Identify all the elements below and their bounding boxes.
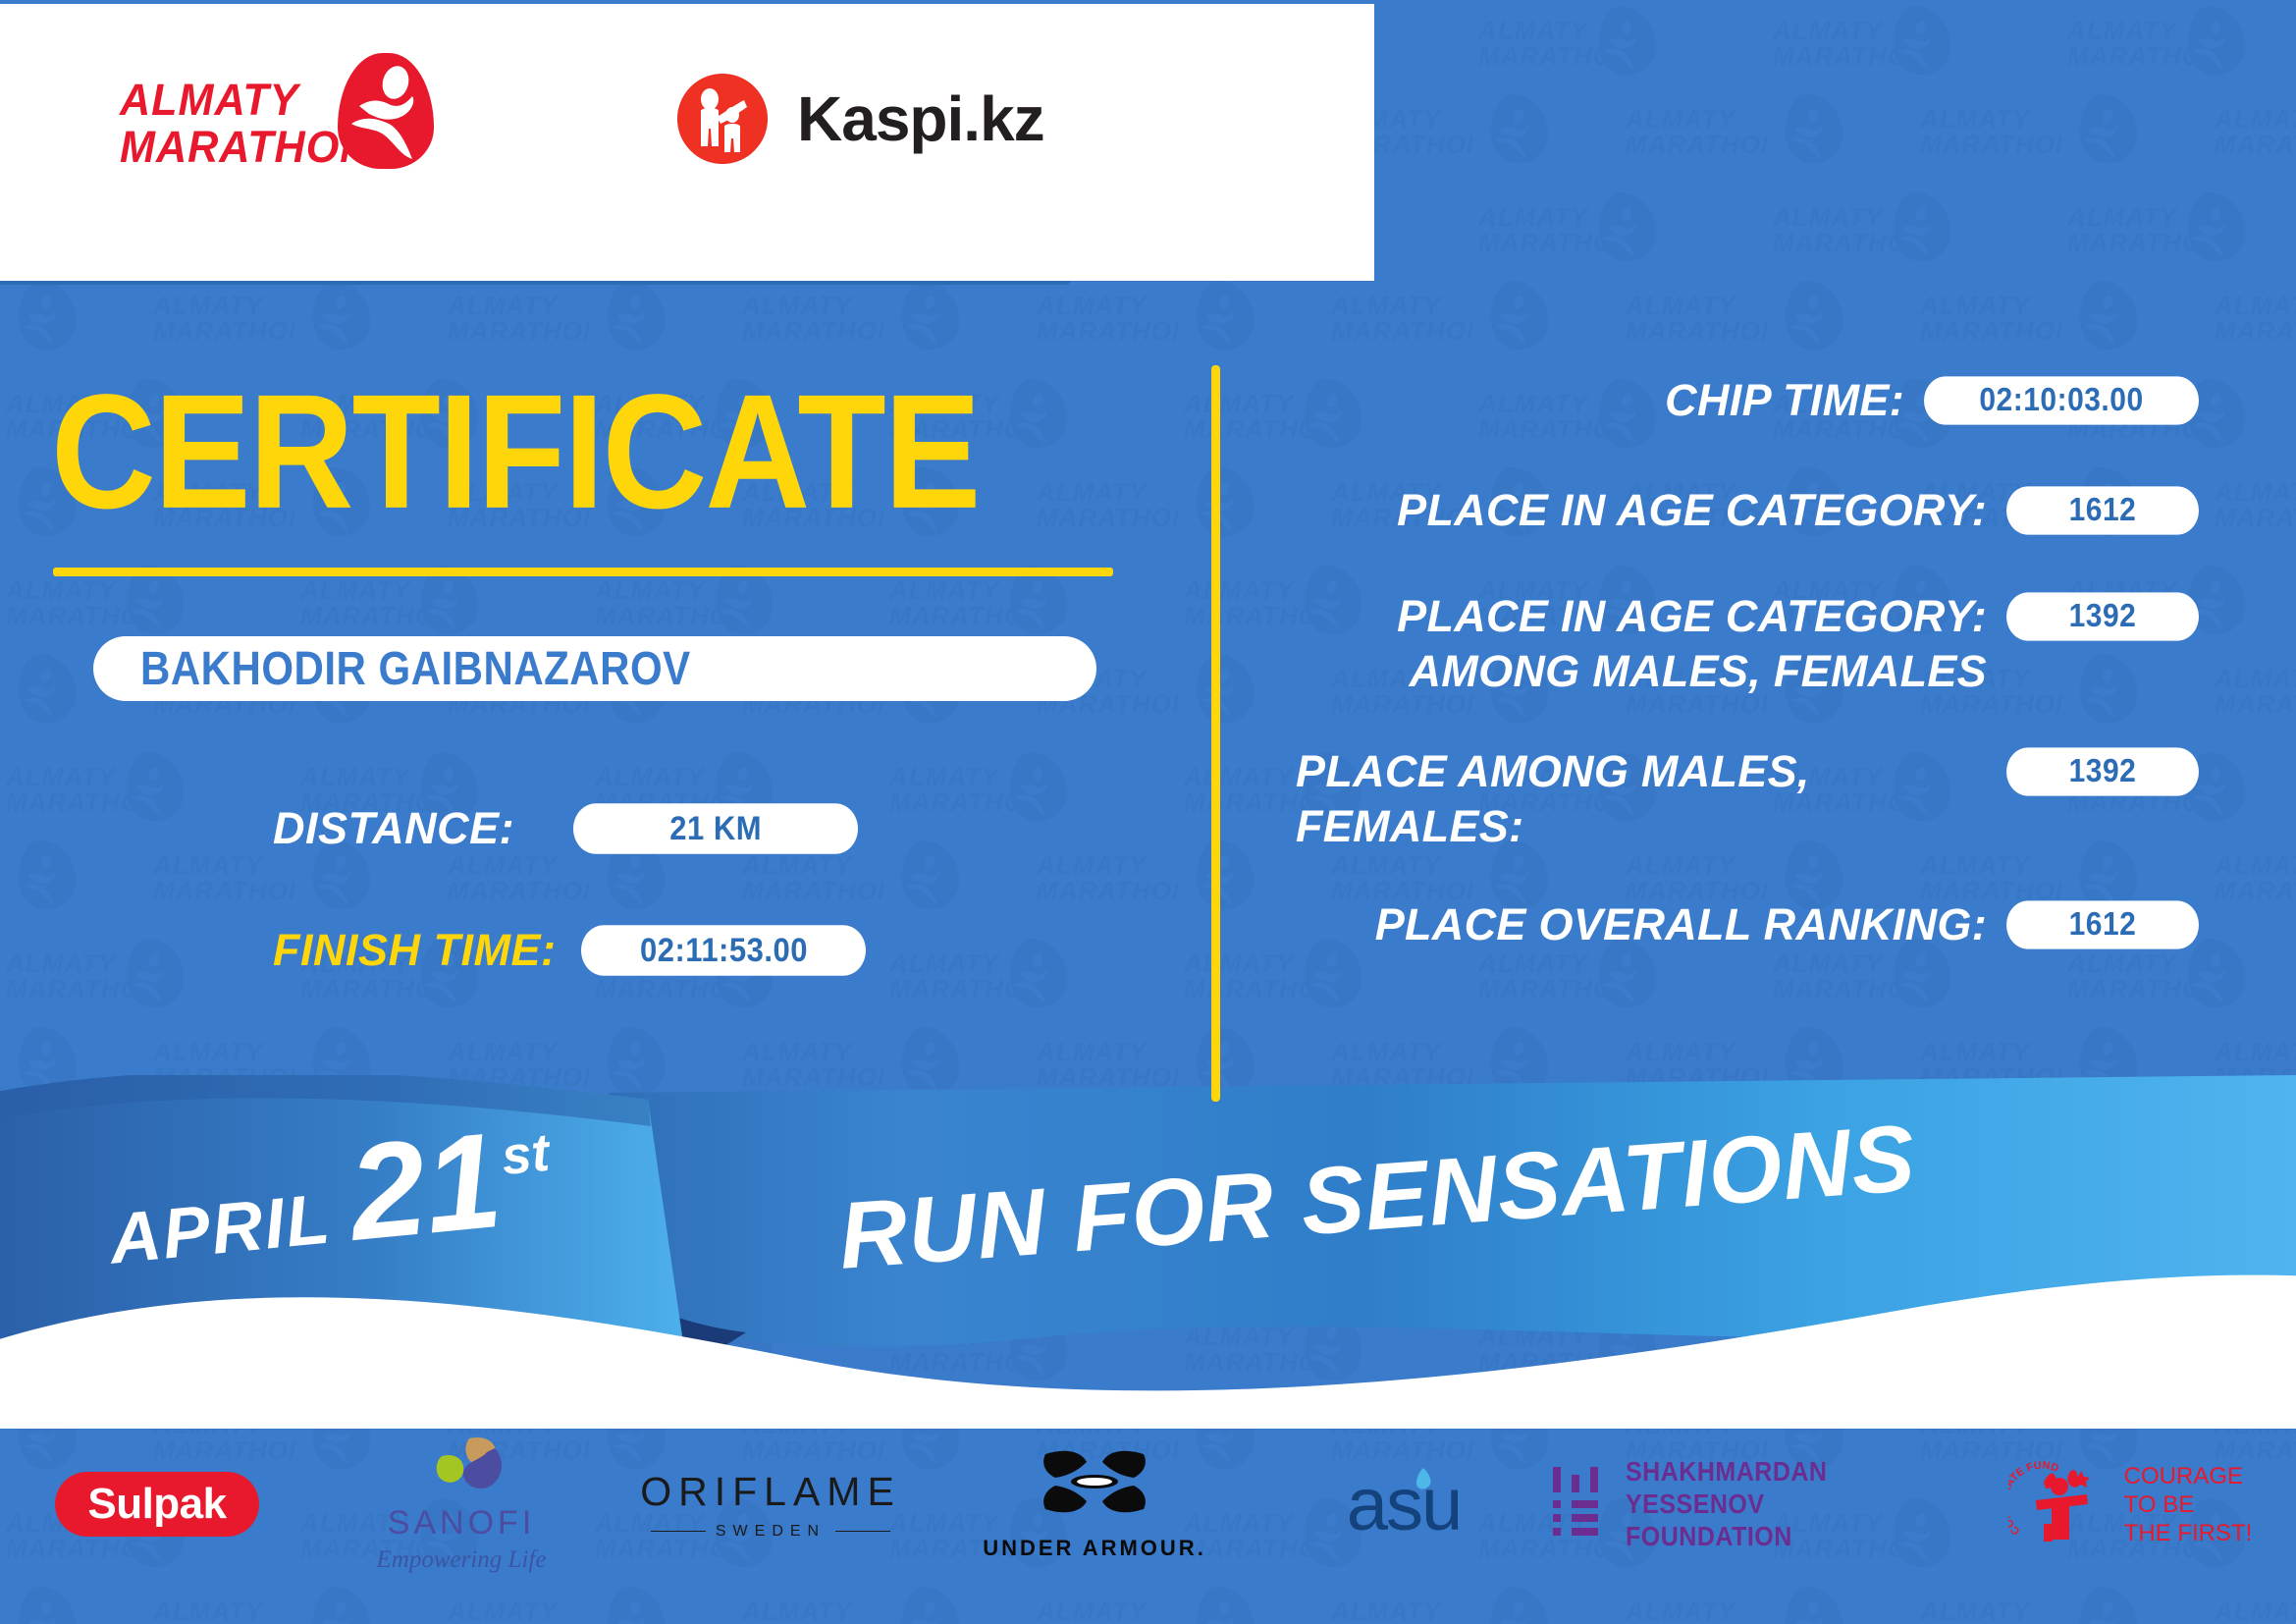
header-top-strip bbox=[0, 0, 2296, 4]
sanofi-mark-icon bbox=[408, 1435, 514, 1499]
place-overall-ranking-label: PLACE OVERALL RANKING: bbox=[1296, 897, 2006, 952]
yessenov-line-1: SHAKHMARDAN YESSENOV bbox=[1626, 1456, 1973, 1521]
distance-value: 21 KM bbox=[573, 803, 858, 854]
courage-logo: CORPORATE FUND COURAGE TO BE THE FIRST! bbox=[2008, 1457, 2253, 1551]
place-age-category-value: 1612 bbox=[2006, 486, 2199, 534]
yessenov-mark-icon bbox=[1551, 1465, 1604, 1543]
sulpak-logo: Sulpak bbox=[55, 1472, 259, 1537]
results-stats-list: CHIP TIME: 02:10:03.00 PLACE IN AGE CATE… bbox=[1296, 373, 2199, 970]
chip-time-label: CHIP TIME: bbox=[1296, 373, 1924, 428]
sponsor-courage-to-be-the-first: CORPORATE FUND COURAGE TO BE THE FIRST! bbox=[1973, 1440, 2287, 1568]
stat-row-place-age-category: PLACE IN AGE CATEGORY: 1612 bbox=[1296, 483, 2199, 538]
logo-line-marathon: MARATHON bbox=[120, 122, 371, 172]
courage-line-2: TO BE bbox=[2124, 1490, 2253, 1519]
finish-time-label: FINISH TIME: bbox=[273, 925, 556, 976]
event-day-ordinal: st bbox=[499, 1122, 552, 1187]
asu-droplet-icon bbox=[1406, 1466, 1439, 1499]
sponsor-sanofi: SANOFI Empowering Life bbox=[314, 1440, 609, 1568]
oriflame-sub: SWEDEN bbox=[640, 1523, 901, 1541]
kaspi-family-icon bbox=[677, 74, 768, 164]
sponsor-asu: asu bbox=[1256, 1440, 1551, 1568]
kaspi-logo-text: Kaspi.kz bbox=[797, 82, 1044, 155]
yessenov-logo: SHAKHMARDAN YESSENOV FOUNDATION bbox=[1551, 1460, 1973, 1548]
courage-line-3: THE FIRST! bbox=[2124, 1519, 2253, 1547]
kaspi-logo: Kaspi.kz bbox=[677, 74, 1044, 164]
under-armour-mark-icon bbox=[1030, 1448, 1159, 1525]
sponsor-under-armour: UNDER ARMOUR. bbox=[933, 1440, 1256, 1568]
sanofi-logo-text: SANOFI bbox=[377, 1504, 547, 1543]
place-age-category-among-value: 1392 bbox=[2006, 592, 2199, 640]
sponsor-logos-row: Sulpak SANOFI Empowering Life ORIFLAME S… bbox=[0, 1426, 2296, 1583]
stat-row-place-among-males-females: PLACE AMONG MALES, FEMALES: 1392 bbox=[1296, 744, 2199, 854]
sponsor-sulpak: Sulpak bbox=[0, 1440, 314, 1568]
courage-runner-icon: CORPORATE FUND bbox=[2008, 1457, 2110, 1551]
oriflame-logo-text: ORIFLAME bbox=[640, 1469, 901, 1515]
place-age-category-among-label: PLACE IN AGE CATEGORY: AMONG MALES, FEMA… bbox=[1296, 589, 2006, 699]
place-overall-ranking-value: 1612 bbox=[2006, 900, 2199, 948]
title-underline bbox=[53, 568, 1113, 576]
finish-time-value: 02:11:53.00 bbox=[581, 925, 866, 976]
courage-logo-text: COURAGE TO BE THE FIRST! bbox=[2124, 1462, 2253, 1547]
stat-row-chip-time: CHIP TIME: 02:10:03.00 bbox=[1296, 373, 2199, 428]
oriflame-rule-left bbox=[651, 1531, 706, 1533]
under-armour-logo-text: UNDER ARMOUR. bbox=[983, 1536, 1206, 1561]
courage-line-1: COURAGE bbox=[2124, 1462, 2253, 1490]
logo-line-almaty: ALMATY bbox=[120, 75, 299, 125]
under-armour-logo: UNDER ARMOUR. bbox=[983, 1448, 1206, 1561]
asu-logo: asu bbox=[1347, 1462, 1462, 1547]
chip-time-value: 02:10:03.00 bbox=[1924, 376, 2199, 424]
oriflame-rule-right bbox=[835, 1531, 890, 1533]
vertical-divider bbox=[1211, 365, 1220, 1102]
sanofi-logo: SANOFI Empowering Life bbox=[377, 1435, 547, 1574]
place-among-males-females-value: 1392 bbox=[2006, 747, 2199, 795]
event-day: 21 bbox=[345, 1119, 507, 1255]
sponsor-yessenov-foundation: SHAKHMARDAN YESSENOV FOUNDATION bbox=[1551, 1440, 1973, 1568]
page-title: CERTIFICATE bbox=[51, 371, 979, 534]
yessenov-logo-text: SHAKHMARDAN YESSENOV FOUNDATION bbox=[1626, 1456, 1973, 1553]
almaty-marathon-logo-text: ALMATY MARATHON bbox=[120, 77, 371, 171]
asu-logo-text: asu bbox=[1347, 1463, 1462, 1546]
oriflame-sub-text: SWEDEN bbox=[716, 1523, 826, 1541]
finish-time-row: FINISH TIME: 02:11:53.00 bbox=[273, 925, 866, 976]
athlete-name-value: BAKHODIR GAIBNAZAROV bbox=[140, 641, 691, 695]
sponsor-oriflame: ORIFLAME SWEDEN bbox=[609, 1440, 933, 1568]
certificate-page: APRIL 21 st RUN FOR SENSATIONS ALMATY MA… bbox=[0, 0, 2296, 1624]
stat-row-place-age-category-among: PLACE IN AGE CATEGORY: AMONG MALES, FEMA… bbox=[1296, 589, 2199, 699]
oriflame-logo: ORIFLAME SWEDEN bbox=[640, 1469, 901, 1541]
almaty-marathon-logo: ALMATY MARATHON bbox=[120, 53, 444, 171]
stat-row-place-overall-ranking: PLACE OVERALL RANKING: 1612 bbox=[1296, 897, 2199, 952]
athlete-name-field: BAKHODIR GAIBNAZAROV bbox=[93, 636, 1096, 701]
distance-row: DISTANCE: 21 KM bbox=[273, 803, 858, 854]
place-among-males-females-label: PLACE AMONG MALES, FEMALES: bbox=[1296, 744, 2006, 854]
yessenov-line-2: FOUNDATION bbox=[1626, 1521, 1973, 1553]
runner-drop-icon bbox=[338, 53, 434, 169]
place-age-category-label: PLACE IN AGE CATEGORY: bbox=[1296, 483, 2006, 538]
distance-label: DISTANCE: bbox=[273, 803, 514, 854]
sanofi-tagline: Empowering Life bbox=[377, 1546, 547, 1574]
